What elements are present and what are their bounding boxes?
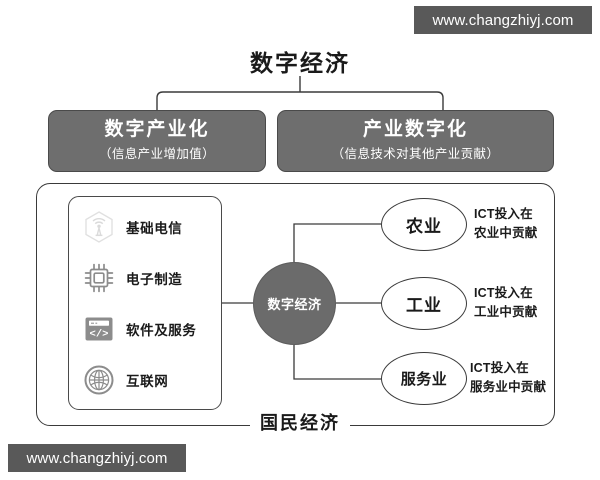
pillar-subtitle: （信息产业增加值） — [99, 148, 215, 162]
diagram-canvas: 数字经济 数字产业化 （信息产业增加值） 产业数字化 （信息技术对其他产业贡献）… — [0, 0, 600, 480]
pillar-title: 产业数字化 — [363, 120, 468, 141]
note-line-2: 服务业中贡献 — [470, 378, 546, 397]
sector-agriculture-note: ICT投入在 农业中贡献 — [474, 205, 538, 244]
national-economy-label-text: 国民经济 — [250, 413, 350, 433]
note-line-2: 工业中贡献 — [474, 303, 538, 322]
hub-digital-economy[interactable]: 数字经济 — [253, 262, 336, 345]
note-line-1: ICT投入在 — [474, 284, 538, 303]
list-item-internet[interactable]: 互联网 — [69, 356, 221, 404]
sector-services[interactable]: 服务业 — [381, 352, 467, 405]
national-economy-label: 国民经济 — [0, 409, 600, 435]
sector-industry-note: ICT投入在 工业中贡献 — [474, 284, 538, 323]
list-item-electronics-manufacturing[interactable]: 电子制造 — [69, 254, 221, 302]
pillar-title: 数字产业化 — [104, 120, 209, 141]
list-item-label: 软件及服务 — [126, 319, 197, 339]
list-item-label: 电子制造 — [126, 268, 182, 288]
sector-industry[interactable]: 工业 — [381, 277, 467, 330]
digital-industry-list: 基础电信 — [68, 196, 222, 410]
sector-services-note: ICT投入在 服务业中贡献 — [470, 359, 546, 398]
broadcast-tower-icon — [81, 209, 117, 245]
sector-agriculture[interactable]: 农业 — [381, 198, 467, 251]
note-line-2: 农业中贡献 — [474, 224, 538, 243]
watermark-bottom: www.changzhiyj.com — [8, 444, 186, 472]
list-item-basic-telecom[interactable]: 基础电信 — [69, 203, 221, 251]
page-title: 数字经济 — [0, 44, 600, 78]
note-line-1: ICT投入在 — [474, 205, 538, 224]
pillar-subtitle: （信息技术对其他产业贡献） — [332, 148, 500, 162]
code-window-icon: </> — [81, 311, 117, 347]
pillar-industrial-digitalization[interactable]: 产业数字化 （信息技术对其他产业贡献） — [277, 110, 554, 172]
list-item-label: 互联网 — [126, 370, 168, 390]
globe-icon — [81, 362, 117, 398]
list-item-software-services[interactable]: </> 软件及服务 — [69, 305, 221, 353]
watermark-top: www.changzhiyj.com — [414, 6, 592, 34]
list-item-label: 基础电信 — [126, 217, 182, 237]
svg-text:</>: </> — [90, 328, 109, 340]
microchip-icon — [81, 260, 117, 296]
note-line-1: ICT投入在 — [470, 359, 546, 378]
pillar-digital-industrialization[interactable]: 数字产业化 （信息产业增加值） — [48, 110, 266, 172]
